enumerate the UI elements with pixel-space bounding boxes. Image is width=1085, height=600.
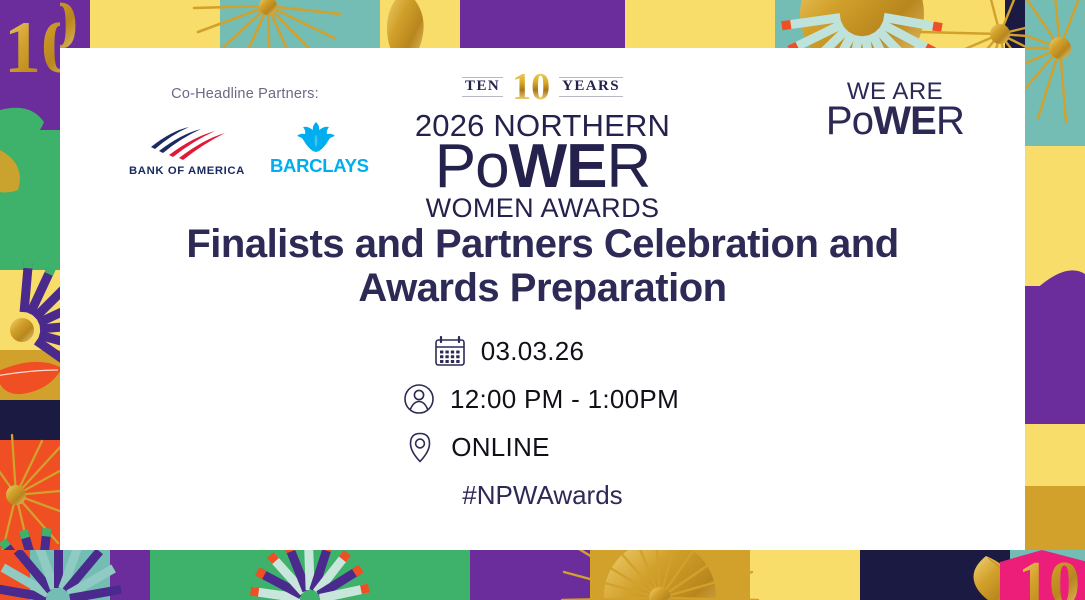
event-time: 12:00 PM - 1:00PM — [450, 384, 679, 415]
partners-label: Co-Headline Partners: — [105, 86, 385, 102]
content-card: Co-Headline Partners: BANK OF AMERICA — [60, 48, 1025, 550]
years-label: YEARS — [559, 77, 623, 97]
partner-logo-list: BANK OF AMERICA BARCLAYS — [105, 120, 385, 177]
partner-logo-barclays: BARCLAYS — [270, 120, 362, 177]
event-details: 03.03.26 12:00 PM - 1:00PM — [60, 334, 1025, 464]
poster-top-row: Co-Headline Partners: BANK OF AMERICA — [60, 48, 1025, 198]
partner-name-barclays: BARCLAYS — [270, 155, 362, 177]
brand-power-line: PoWER — [805, 102, 985, 140]
event-location: ONLINE — [451, 432, 550, 463]
ten-label: TEN — [462, 77, 503, 97]
brand-power-suffix: R — [936, 99, 964, 143]
event-hashtag: #NPWAwards — [60, 480, 1025, 511]
partner-name-bank-of-america: BANK OF AMERICA — [128, 165, 246, 177]
barclays-eagle-icon — [296, 120, 336, 154]
ten-years-badge: TEN 10 YEARS — [378, 70, 708, 104]
power-suffix: R — [606, 132, 650, 201]
event-logo-power: PoWER — [378, 138, 708, 196]
ten-years-number: 10 — [512, 68, 550, 106]
event-title: Finalists and Partners Celebration and A… — [183, 222, 903, 310]
bank-of-america-flag-icon — [147, 121, 227, 161]
brand-power-prefix: Po — [826, 99, 873, 143]
event-date: 03.03.26 — [481, 336, 585, 367]
detail-row-date: 03.03.26 — [60, 334, 1025, 368]
event-logo: TEN 10 YEARS 2026 NORTHERN PoWER WOMEN A… — [378, 70, 708, 224]
co-headline-partners: Co-Headline Partners: BANK OF AMERICA — [105, 86, 385, 177]
power-bold: WE — [509, 132, 607, 201]
calendar-icon — [433, 334, 467, 368]
event-logo-subtitle: WOMEN AWARDS — [378, 193, 708, 224]
event-poster: 10 — [0, 0, 1085, 600]
person-icon — [402, 382, 436, 416]
power-prefix: Po — [435, 132, 509, 201]
detail-row-time: 12:00 PM - 1:00PM — [60, 382, 1025, 416]
detail-row-location: ONLINE — [60, 430, 1025, 464]
brand-power-bold: WE — [873, 99, 936, 143]
svg-text:10: 10 — [1018, 550, 1080, 600]
we-are-power-brand: WE ARE PoWER — [805, 78, 985, 140]
location-pin-icon — [403, 430, 437, 464]
partner-logo-bank-of-america: BANK OF AMERICA — [128, 121, 246, 177]
